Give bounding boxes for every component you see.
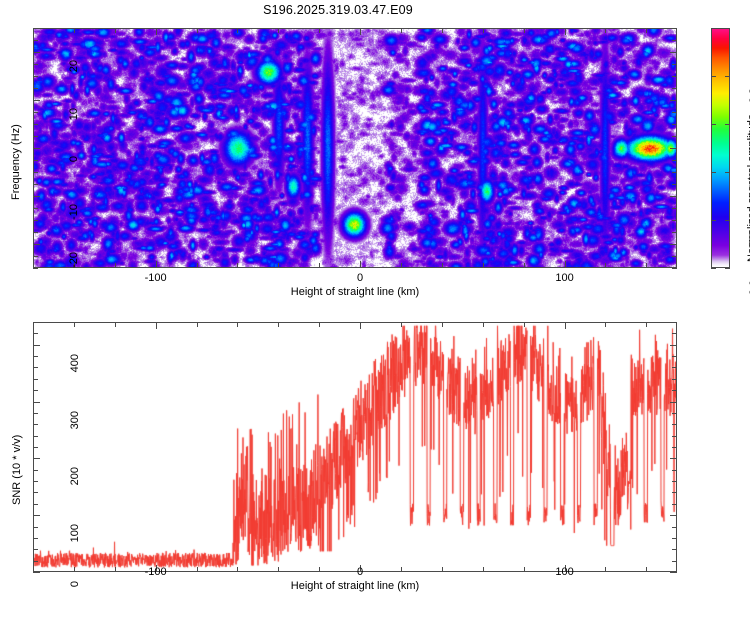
tick-mark	[565, 322, 566, 329]
tick-mark	[33, 88, 38, 89]
tick-mark	[672, 88, 677, 89]
tick-mark	[33, 515, 40, 516]
tick-mark	[74, 28, 75, 33]
tick-mark	[33, 470, 38, 471]
tick-mark	[33, 561, 38, 562]
tick-mark	[646, 263, 647, 268]
spectrogram-xaxis-label: Height of straight line (km)	[33, 286, 677, 298]
tick-mark	[672, 256, 677, 257]
tick-label: 100	[540, 272, 590, 284]
tick-mark	[319, 322, 320, 327]
tick-mark	[33, 424, 38, 425]
tick-mark	[237, 263, 238, 268]
colorbar-gradient	[712, 29, 729, 267]
tick-label: 200	[69, 467, 81, 507]
tick-label: -10	[68, 204, 80, 244]
tick-mark	[33, 208, 38, 209]
tick-mark	[442, 322, 443, 327]
tick-mark	[672, 76, 677, 77]
tick-mark	[670, 402, 677, 403]
snr-panel	[33, 322, 677, 572]
tick-label: 0	[335, 272, 385, 284]
tick-mark	[33, 52, 40, 53]
tick-mark	[524, 567, 525, 572]
tick-label: 0	[335, 566, 385, 578]
tick-mark	[711, 220, 716, 221]
tick-mark	[672, 447, 677, 448]
tick-mark	[672, 136, 677, 137]
tick-mark	[33, 436, 38, 437]
tick-mark	[646, 28, 647, 33]
tick-mark	[605, 28, 606, 33]
tick-mark	[33, 492, 38, 493]
tick-mark	[33, 28, 38, 29]
tick-mark	[672, 549, 677, 550]
tick-mark	[74, 567, 75, 572]
tick-mark	[33, 160, 38, 161]
tick-mark	[672, 424, 677, 425]
tick-mark	[33, 232, 38, 233]
tick-label: 20	[68, 60, 80, 100]
tick-mark	[672, 208, 677, 209]
tick-mark	[401, 263, 402, 268]
tick-mark	[725, 268, 730, 269]
tick-mark	[33, 402, 40, 403]
tick-mark	[33, 549, 38, 550]
snr-canvas	[34, 323, 676, 571]
tick-mark	[725, 76, 730, 77]
tick-mark	[319, 28, 320, 33]
tick-mark	[401, 322, 402, 327]
tick-mark	[33, 124, 38, 125]
tick-mark	[33, 390, 38, 391]
tick-mark	[565, 28, 566, 35]
tick-mark	[672, 124, 677, 125]
tick-mark	[33, 184, 38, 185]
tick-mark	[197, 567, 198, 572]
tick-mark	[670, 244, 677, 245]
tick-label: 0	[68, 156, 80, 196]
tick-label: 100	[69, 524, 81, 564]
tick-mark	[672, 527, 677, 528]
tick-mark	[33, 220, 38, 221]
tick-mark	[670, 572, 677, 573]
tick-mark	[278, 263, 279, 268]
tick-mark	[33, 64, 38, 65]
tick-mark	[401, 567, 402, 572]
tick-mark	[605, 263, 606, 268]
tick-mark	[670, 100, 677, 101]
tick-mark	[33, 572, 40, 573]
tick-mark	[33, 538, 38, 539]
tick-mark	[401, 28, 402, 33]
tick-label: -100	[131, 272, 181, 284]
tick-mark	[33, 112, 38, 113]
tick-mark	[670, 148, 677, 149]
tick-mark	[672, 390, 677, 391]
tick-label: 10	[68, 108, 80, 148]
tick-mark	[670, 196, 677, 197]
tick-mark	[672, 232, 677, 233]
tick-mark	[725, 172, 730, 173]
spectrogram-yaxis-label: Frequency (Hz)	[10, 124, 22, 200]
tick-mark	[711, 124, 716, 125]
tick-mark	[33, 172, 38, 173]
tick-mark	[672, 268, 677, 269]
tick-mark	[319, 567, 320, 572]
tick-mark	[33, 148, 40, 149]
tick-mark	[278, 322, 279, 327]
tick-label: 400	[69, 354, 81, 394]
tick-mark	[670, 52, 677, 53]
tick-mark	[33, 345, 40, 346]
tick-mark	[33, 100, 40, 101]
tick-mark	[115, 322, 116, 327]
tick-mark	[672, 112, 677, 113]
tick-mark	[672, 470, 677, 471]
tick-mark	[33, 268, 38, 269]
tick-mark	[33, 481, 38, 482]
tick-label: -100	[131, 566, 181, 578]
tick-label: 300	[69, 411, 81, 451]
tick-mark	[33, 76, 38, 77]
tick-mark	[33, 256, 38, 257]
tick-mark	[115, 567, 116, 572]
tick-mark	[725, 220, 730, 221]
tick-mark	[725, 124, 730, 125]
tick-mark	[565, 261, 566, 268]
tick-mark	[483, 263, 484, 268]
tick-mark	[483, 28, 484, 33]
snr-xaxis-label: Height of straight line (km)	[33, 580, 677, 592]
tick-mark	[524, 28, 525, 33]
tick-mark	[672, 160, 677, 161]
tick-mark	[360, 322, 361, 329]
tick-mark	[156, 261, 157, 268]
tick-mark	[672, 413, 677, 414]
tick-mark	[646, 322, 647, 327]
tick-mark	[605, 322, 606, 327]
tick-label: 100	[540, 566, 590, 578]
tick-mark	[672, 220, 677, 221]
tick-mark	[33, 333, 38, 334]
tick-mark	[672, 481, 677, 482]
spectrogram-panel	[33, 28, 677, 268]
tick-mark	[483, 322, 484, 327]
tick-mark	[237, 28, 238, 33]
tick-mark	[319, 263, 320, 268]
tick-mark	[115, 28, 116, 33]
tick-mark	[197, 28, 198, 33]
colorbar	[711, 28, 730, 268]
tick-mark	[672, 172, 677, 173]
tick-mark	[711, 268, 716, 269]
tick-mark	[33, 356, 38, 357]
tick-mark	[672, 492, 677, 493]
tick-mark	[670, 345, 677, 346]
tick-mark	[672, 504, 677, 505]
tick-mark	[156, 28, 157, 35]
tick-mark	[524, 322, 525, 327]
tick-mark	[670, 515, 677, 516]
tick-mark	[33, 40, 38, 41]
tick-mark	[33, 136, 38, 137]
tick-mark	[672, 379, 677, 380]
tick-mark	[74, 322, 75, 327]
tick-mark	[197, 263, 198, 268]
tick-mark	[33, 413, 38, 414]
tick-mark	[237, 322, 238, 327]
tick-mark	[672, 322, 677, 323]
tick-mark	[360, 28, 361, 35]
tick-mark	[605, 567, 606, 572]
figure-title: S196.2025.319.03.47.E09	[0, 3, 676, 17]
tick-mark	[672, 40, 677, 41]
tick-mark	[278, 567, 279, 572]
tick-mark	[672, 538, 677, 539]
tick-mark	[197, 322, 198, 327]
tick-mark	[33, 196, 40, 197]
tick-mark	[442, 263, 443, 268]
tick-mark	[672, 356, 677, 357]
tick-mark	[33, 458, 40, 459]
tick-mark	[524, 263, 525, 268]
tick-mark	[33, 322, 38, 323]
tick-mark	[442, 567, 443, 572]
tick-mark	[672, 333, 677, 334]
tick-mark	[33, 244, 40, 245]
tick-mark	[33, 447, 38, 448]
tick-mark	[115, 263, 116, 268]
colorbar-label: Normalized spectral amplitude	[746, 114, 750, 262]
tick-mark	[672, 28, 677, 29]
tick-mark	[711, 76, 716, 77]
snr-yaxis-label: SNR (10 * v/v)	[11, 435, 23, 505]
tick-mark	[672, 184, 677, 185]
spectrogram-canvas	[34, 29, 676, 267]
tick-mark	[646, 567, 647, 572]
tick-mark	[442, 28, 443, 33]
tick-mark	[278, 28, 279, 33]
tick-mark	[237, 567, 238, 572]
tick-mark	[33, 379, 38, 380]
tick-mark	[670, 458, 677, 459]
tick-mark	[483, 567, 484, 572]
tick-mark	[711, 172, 716, 173]
tick-mark	[360, 261, 361, 268]
tick-mark	[672, 367, 677, 368]
tick-mark	[33, 367, 38, 368]
tick-mark	[672, 64, 677, 65]
tick-mark	[33, 527, 38, 528]
tick-mark	[672, 561, 677, 562]
tick-mark	[156, 322, 157, 329]
tick-mark	[672, 436, 677, 437]
tick-mark	[33, 504, 38, 505]
